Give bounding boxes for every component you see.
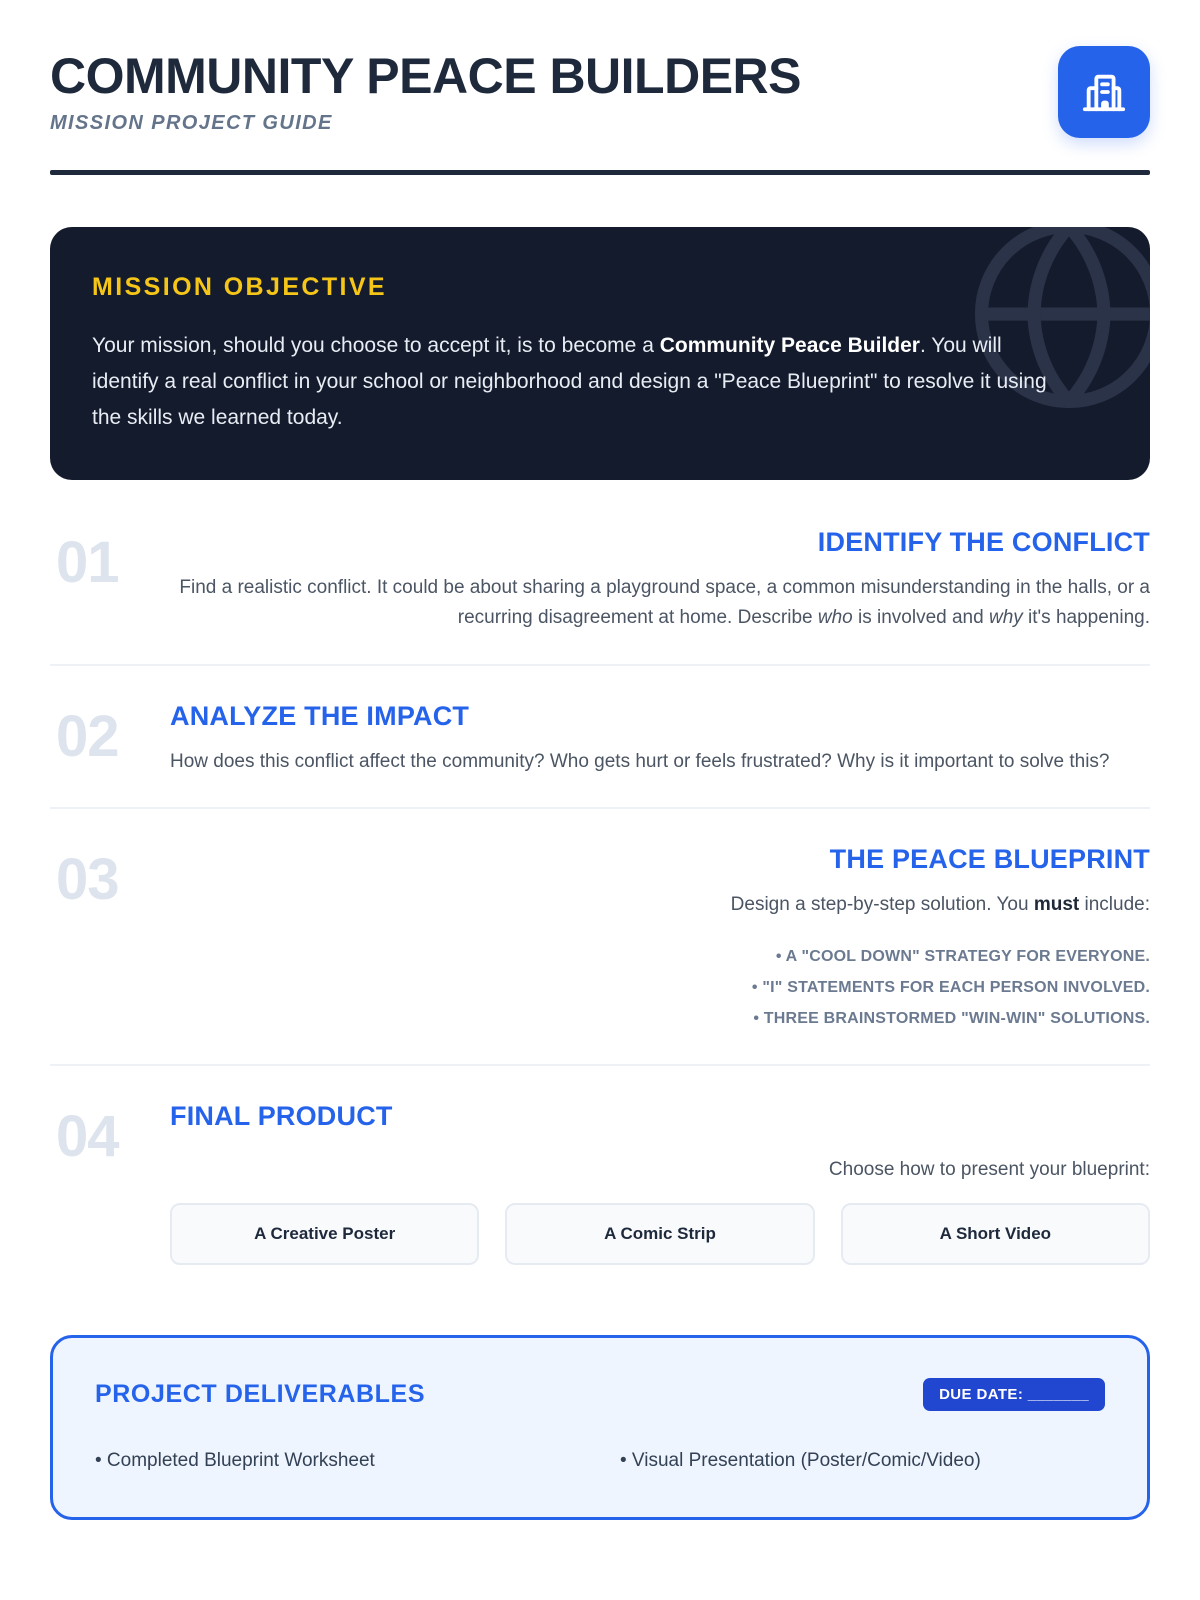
page-subtitle: MISSION PROJECT GUIDE [50,112,801,135]
step-body-part-1: Design a step-by-step solution. You [731,894,1034,915]
step-03: 03 THE PEACE BLUEPRINT Design a step-by-… [50,843,1150,1066]
mission-objective-title: MISSION OBJECTIVE [92,273,1102,302]
step-heading: FINAL PRODUCT [170,1100,1150,1132]
step-body-bold: must [1034,894,1079,915]
page-header: COMMUNITY PEACE BUILDERS MISSION PROJECT… [50,0,1150,138]
deliverables-list: • Completed Blueprint Worksheet • Visual… [95,1447,1105,1476]
step-number: 04 [56,1108,119,1166]
list-item: • A "COOL DOWN" STRATEGY FOR EVERYONE. [170,941,1150,972]
step-body-part-2: is involved and [853,607,989,628]
project-guide-page: COMMUNITY PEACE BUILDERS MISSION PROJECT… [0,0,1200,1600]
step-01: 01 IDENTIFY THE CONFLICT Find a realisti… [50,526,1150,666]
step-04: 04 FINAL PRODUCT Choose how to present y… [50,1100,1150,1294]
step-heading: ANALYZE THE IMPACT [170,700,1150,732]
step-body: How does this conflict affect the commun… [170,747,1150,778]
step-number: 03 [56,851,119,909]
step-number: 02 [56,708,119,766]
step-heading: IDENTIFY THE CONFLICT [170,526,1150,558]
option-creative-poster[interactable]: A Creative Poster [170,1203,479,1265]
step-body: Design a step-by-step solution. You must… [170,890,1150,921]
page-title: COMMUNITY PEACE BUILDERS [50,50,801,103]
deliverables-header: PROJECT DELIVERABLES DUE DATE: _______ [95,1378,1105,1411]
final-product-options: A Creative Poster A Comic Strip A Short … [170,1203,1150,1265]
objective-text-part-1: Your mission, should you choose to accep… [92,334,660,357]
list-item: • Completed Blueprint Worksheet [95,1447,580,1476]
due-date-badge[interactable]: DUE DATE: _______ [923,1378,1105,1411]
header-divider [50,170,1150,175]
steps-list: 01 IDENTIFY THE CONFLICT Find a realisti… [50,526,1150,1294]
project-deliverables-panel: PROJECT DELIVERABLES DUE DATE: _______ •… [50,1335,1150,1521]
list-item: • "I" STATEMENTS FOR EACH PERSON INVOLVE… [170,972,1150,1003]
step-body-part-2: include: [1079,894,1150,915]
deliverables-title: PROJECT DELIVERABLES [95,1380,425,1409]
building-icon-badge [1058,46,1150,138]
list-item: • Visual Presentation (Poster/Comic/Vide… [620,1447,1105,1476]
mission-objective-panel: MISSION OBJECTIVE Your mission, should y… [50,227,1150,480]
objective-text-bold: Community Peace Builder [660,334,920,357]
final-product-instruction: Choose how to present your blueprint: [170,1159,1150,1181]
option-comic-strip[interactable]: A Comic Strip [505,1203,814,1265]
step-body-emphasis-1: who [818,607,853,628]
list-item: • THREE BRAINSTORMED "WIN-WIN" SOLUTIONS… [170,1003,1150,1034]
option-short-video[interactable]: A Short Video [841,1203,1150,1265]
mission-objective-content: MISSION OBJECTIVE Your mission, should y… [92,273,1102,436]
step-body: Find a realistic conflict. It could be a… [170,573,1150,635]
step-number: 01 [56,534,119,592]
header-text-block: COMMUNITY PEACE BUILDERS MISSION PROJECT… [50,46,801,135]
blueprint-requirements-list: • A "COOL DOWN" STRATEGY FOR EVERYONE. •… [170,941,1150,1035]
step-body-part-3: it's happening. [1023,607,1150,628]
step-02: 02 ANALYZE THE IMPACT How does this conf… [50,700,1150,809]
building-icon [1081,69,1127,115]
step-heading: THE PEACE BLUEPRINT [170,843,1150,875]
mission-objective-body: Your mission, should you choose to accep… [92,328,1072,436]
step-body-emphasis-2: why [989,607,1023,628]
